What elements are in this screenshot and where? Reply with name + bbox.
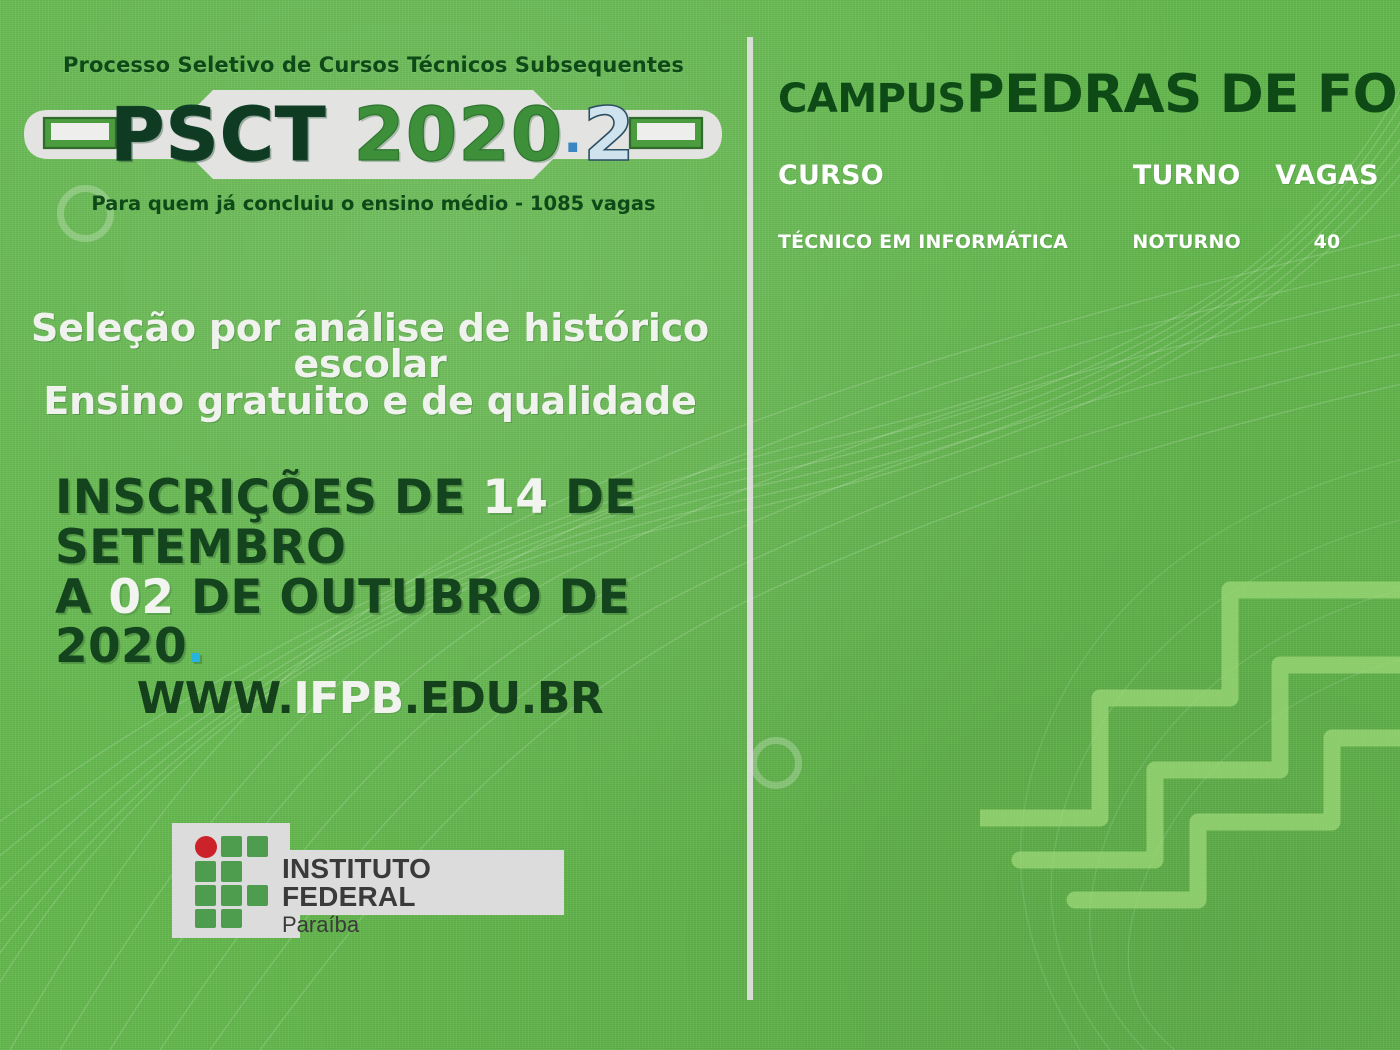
table-row: TÉCNICO EM INFORMÁTICA NOTURNO 40 bbox=[778, 231, 1388, 253]
logo-title: INSTITUTO FEDERAL bbox=[282, 855, 572, 911]
ifpb-logo: INSTITUTO FEDERAL Paraíba bbox=[172, 818, 572, 943]
right-column: CAMPUSPEDRAS DE FOGO CURSO TURNO VAGAS T… bbox=[747, 0, 1400, 1050]
dates-end-day: 02 bbox=[108, 570, 174, 625]
ifpb-logo-mark bbox=[195, 836, 271, 928]
url-prefix: WWW. bbox=[137, 673, 294, 724]
column-header-turno: TURNO bbox=[1107, 160, 1266, 231]
psct-banner: PSCT 2020 . 2 bbox=[18, 82, 728, 187]
selection-line-2: Ensino gratuito e de qualidade bbox=[0, 383, 740, 419]
process-kicker-text: Processo Seletivo de Cursos Técnicos Sub… bbox=[0, 53, 747, 77]
dates-part-3: A bbox=[55, 570, 108, 625]
courses-table-wrapper: CURSO TURNO VAGAS TÉCNICO EM INFORMÁTICA… bbox=[778, 160, 1388, 253]
campus-heading: CAMPUSPEDRAS DE FOGO bbox=[778, 64, 1400, 125]
courses-table: CURSO TURNO VAGAS TÉCNICO EM INFORMÁTICA… bbox=[778, 160, 1388, 253]
column-header-vagas: VAGAS bbox=[1266, 160, 1388, 231]
logo-red-dot bbox=[195, 836, 217, 858]
cell-curso: TÉCNICO EM INFORMÁTICA bbox=[778, 231, 1107, 253]
dates-start-day: 14 bbox=[482, 470, 548, 525]
dates-period: . bbox=[187, 619, 205, 674]
banner-dot-label: . bbox=[563, 106, 583, 164]
dates-part-1: INSCRIÇÕES DE bbox=[55, 470, 482, 525]
banner-title-text: PSCT 2020 . 2 bbox=[18, 82, 728, 187]
campus-name: PEDRAS DE FOGO bbox=[966, 64, 1400, 125]
cell-vagas: 40 bbox=[1266, 231, 1388, 253]
banner-psct-label: PSCT bbox=[110, 92, 326, 178]
table-header-row: CURSO TURNO VAGAS bbox=[778, 160, 1388, 231]
campus-label: CAMPUS bbox=[778, 76, 966, 122]
selection-line-1: Seleção por análise de histórico escolar bbox=[0, 310, 740, 383]
poster-canvas: Processo Seletivo de Cursos Técnicos Sub… bbox=[0, 0, 1400, 1050]
website-url[interactable]: WWW.IFPB.EDU.BR bbox=[0, 673, 740, 724]
registration-dates-block: INSCRIÇÕES DE 14 DE SETEMBRO A 02 DE OUT… bbox=[55, 473, 745, 672]
logo-wordmark: INSTITUTO FEDERAL Paraíba bbox=[282, 855, 572, 937]
banner-edition-label: 2 bbox=[583, 92, 636, 178]
url-suffix: .EDU.BR bbox=[404, 673, 604, 724]
selection-info-block: Seleção por análise de histórico escolar… bbox=[0, 310, 740, 419]
url-brand: IFPB bbox=[293, 673, 403, 724]
left-column: Processo Seletivo de Cursos Técnicos Sub… bbox=[0, 0, 747, 1050]
column-header-curso: CURSO bbox=[778, 160, 1107, 231]
banner-year-label: 2020 bbox=[353, 92, 563, 178]
eligibility-subtitle: Para quem já concluiu o ensino médio - 1… bbox=[0, 192, 747, 215]
logo-subtitle: Paraíba bbox=[282, 913, 572, 937]
cell-turno: NOTURNO bbox=[1107, 231, 1266, 253]
